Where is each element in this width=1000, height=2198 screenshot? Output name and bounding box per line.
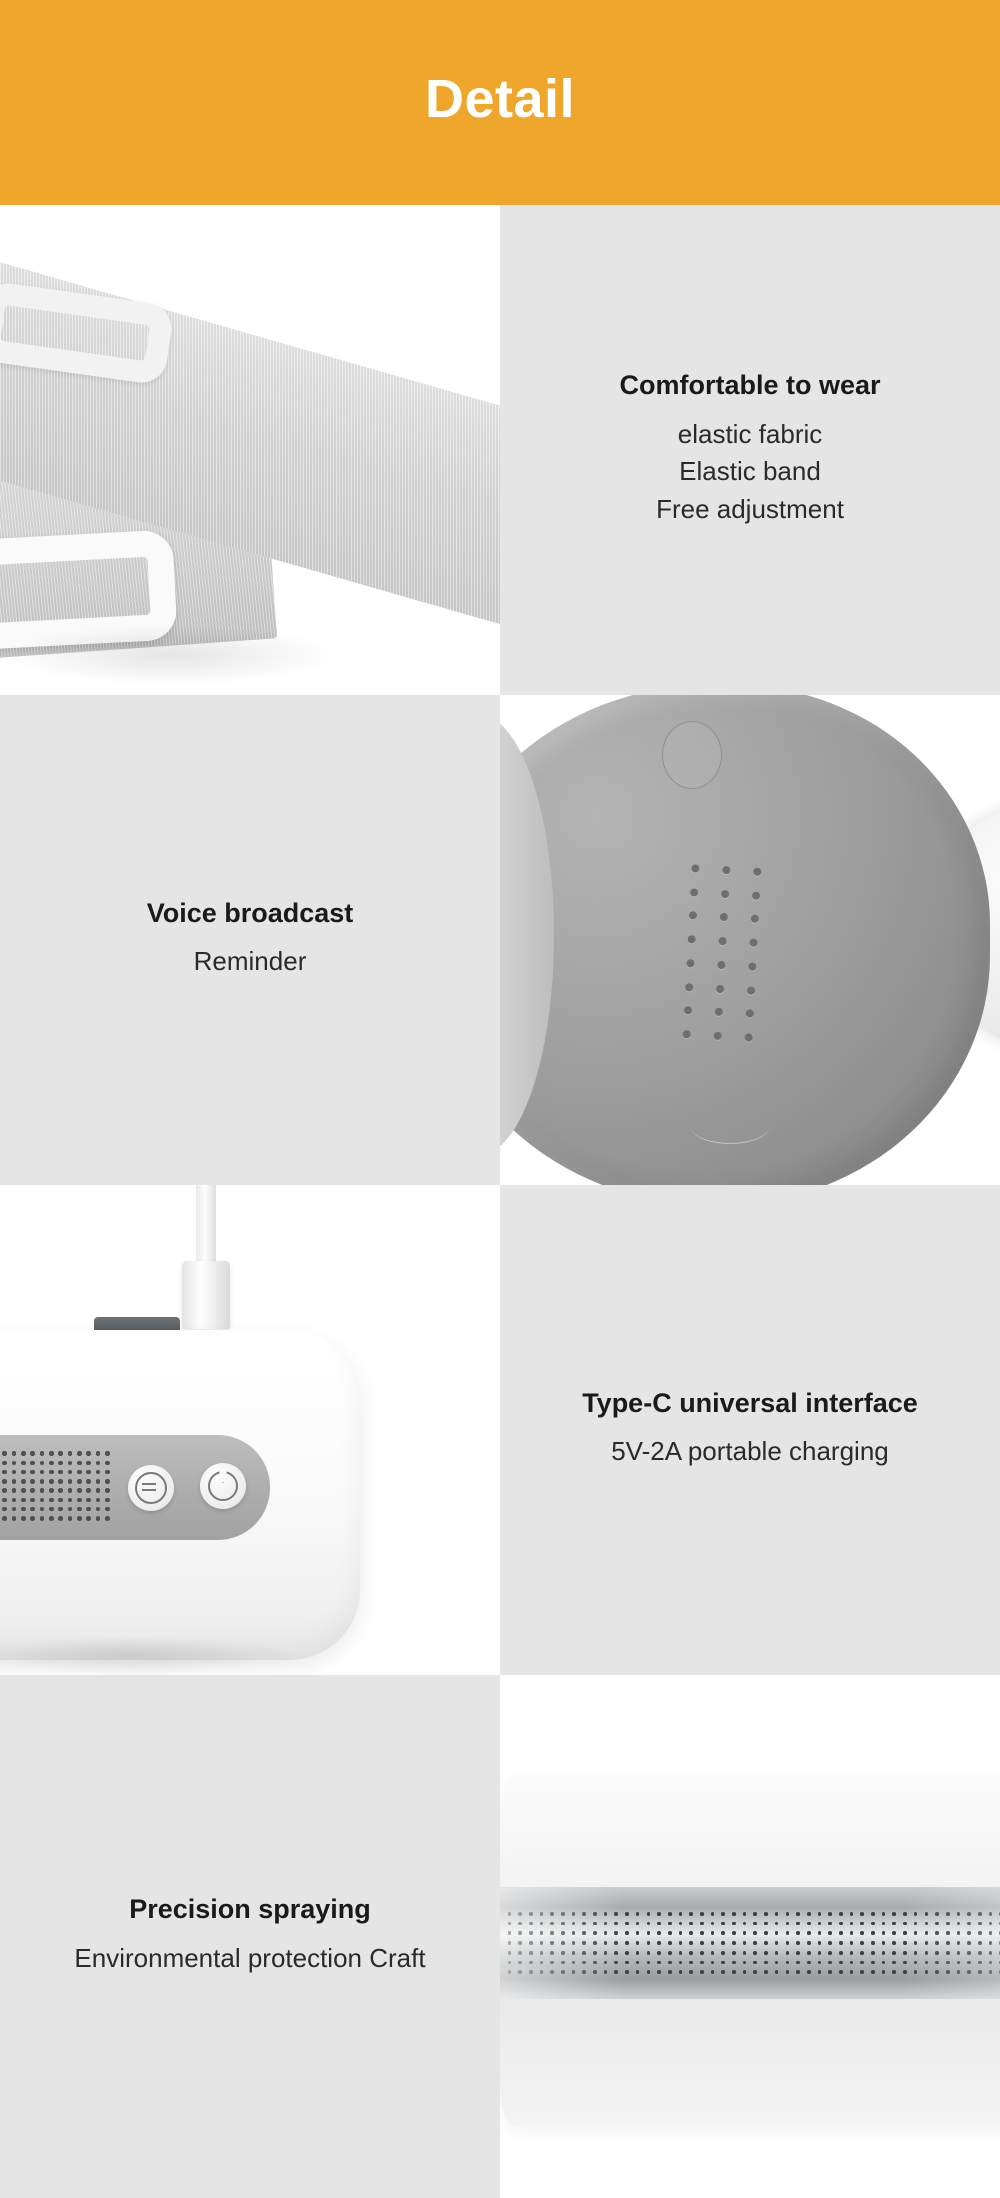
usb-c-port: [94, 1317, 180, 1331]
feature-image-type-c-interface: [0, 1185, 500, 1675]
speaker-grille-icon: [671, 856, 773, 1051]
page-title: Detail: [425, 72, 575, 126]
device-speaker-illustration: [500, 695, 1000, 1185]
power-button[interactable]: [200, 1463, 246, 1509]
spray-band-illustration: [500, 1675, 1000, 2198]
usb-c-connector: [182, 1261, 230, 1329]
feature-text-comfortable-to-wear: Comfortable to wear elastic fabric Elast…: [500, 205, 1000, 695]
feature-heading: Precision spraying: [129, 1895, 371, 1923]
feature-row-3: Type-C universal interface 5V-2A portabl…: [0, 1185, 1000, 1675]
feature-text-voice-broadcast: Voice broadcast Reminder: [0, 695, 500, 1185]
feature-text-precision-spraying: Precision spraying Environmental protect…: [0, 1675, 500, 2198]
mode-icon: [135, 1472, 167, 1504]
feature-heading: Comfortable to wear: [619, 371, 880, 399]
device-bottom-notch: [690, 1107, 770, 1144]
feature-line: Environmental protection Craft: [74, 1940, 425, 1978]
feature-row-4: Precision spraying Environmental protect…: [0, 1675, 1000, 2198]
device-drop-shadow: [0, 1637, 300, 1675]
power-icon: [208, 1471, 238, 1501]
elastic-strap-illustration: [0, 205, 500, 695]
feature-heading: Voice broadcast: [147, 899, 354, 927]
product-detail-page: Detail Comfortable to wear elastic fabri…: [0, 0, 1000, 2198]
feature-line: Reminder: [194, 943, 307, 981]
feature-image-voice-broadcast: [500, 695, 1000, 1185]
feature-row-1: Comfortable to wear elastic fabric Elast…: [0, 205, 1000, 695]
feature-line: elastic fabric: [678, 416, 823, 454]
spray-perforation-icon: [504, 1909, 1000, 1977]
strap-drop-shadow: [0, 625, 340, 685]
usb-charging-illustration: [0, 1185, 500, 1675]
vent-grille-icon: [0, 1449, 112, 1523]
feature-row-2: Voice broadcast Reminder: [0, 695, 1000, 1185]
feature-heading: Type-C universal interface: [582, 1389, 918, 1417]
device-oval-marker-icon: [662, 721, 722, 789]
page-header-banner: Detail: [0, 0, 1000, 205]
feature-image-comfortable-to-wear: [0, 205, 500, 695]
feature-line: 5V-2A portable charging: [611, 1433, 889, 1471]
mode-button[interactable]: [128, 1465, 174, 1511]
feature-line: Elastic band: [679, 453, 821, 491]
feature-text-type-c-interface: Type-C universal interface 5V-2A portabl…: [500, 1185, 1000, 1675]
feature-image-precision-spraying: [500, 1675, 1000, 2198]
usb-cable: [196, 1185, 216, 1267]
feature-line: Free adjustment: [656, 491, 844, 529]
